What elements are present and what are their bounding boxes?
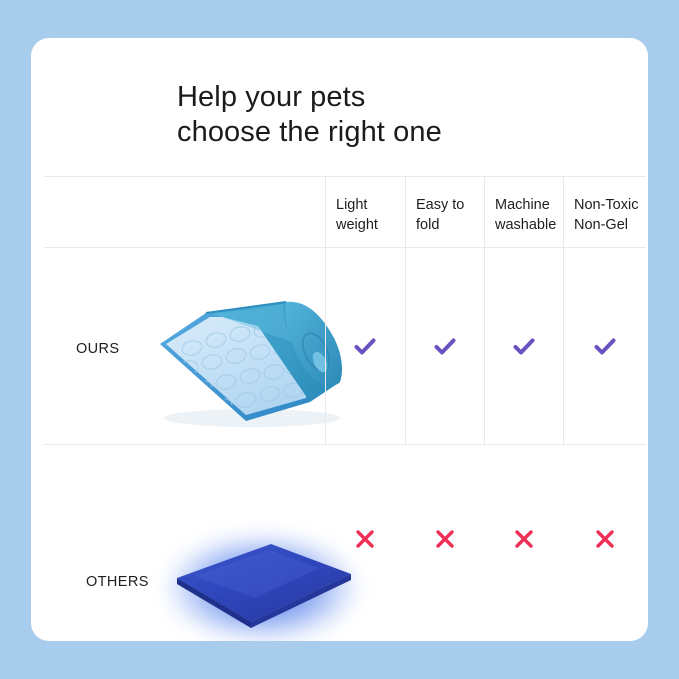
cell-ours-machine-washable (484, 247, 563, 444)
column-header-easy-to-fold: Easy to fold (405, 176, 484, 247)
cell-others-easy-to-fold (405, 444, 484, 634)
cell-others-light-weight (325, 444, 405, 634)
cell-ours-light-weight (325, 247, 405, 444)
cross-icon (433, 527, 457, 551)
cell-ours-non-toxic-non-gel (563, 247, 646, 444)
comparison-card: Help your pets choose the right one OURS… (31, 38, 648, 641)
column-header-non-toxic-non-gel: Non-Toxic Non-Gel (563, 176, 646, 247)
column-header-light-weight: Light weight (325, 176, 405, 247)
cell-others-non-toxic-non-gel (563, 444, 646, 634)
cross-icon (593, 527, 617, 551)
cross-icon (512, 527, 536, 551)
check-icon (431, 332, 459, 360)
page-title-line-2: choose the right one (177, 115, 617, 150)
column-header-machine-washable: Machine washable (484, 176, 563, 247)
check-icon (351, 332, 379, 360)
comparison-table: Light weight Easy to fold Machine washab… (44, 176, 646, 444)
cross-icon (353, 527, 377, 551)
page-title-line-1: Help your pets (177, 80, 617, 115)
page-title: Help your pets choose the right one (177, 80, 617, 150)
cell-others-machine-washable (484, 444, 563, 634)
comparison-row-others (44, 444, 646, 634)
check-icon (591, 332, 619, 360)
check-icon (510, 332, 538, 360)
cell-ours-easy-to-fold (405, 247, 484, 444)
